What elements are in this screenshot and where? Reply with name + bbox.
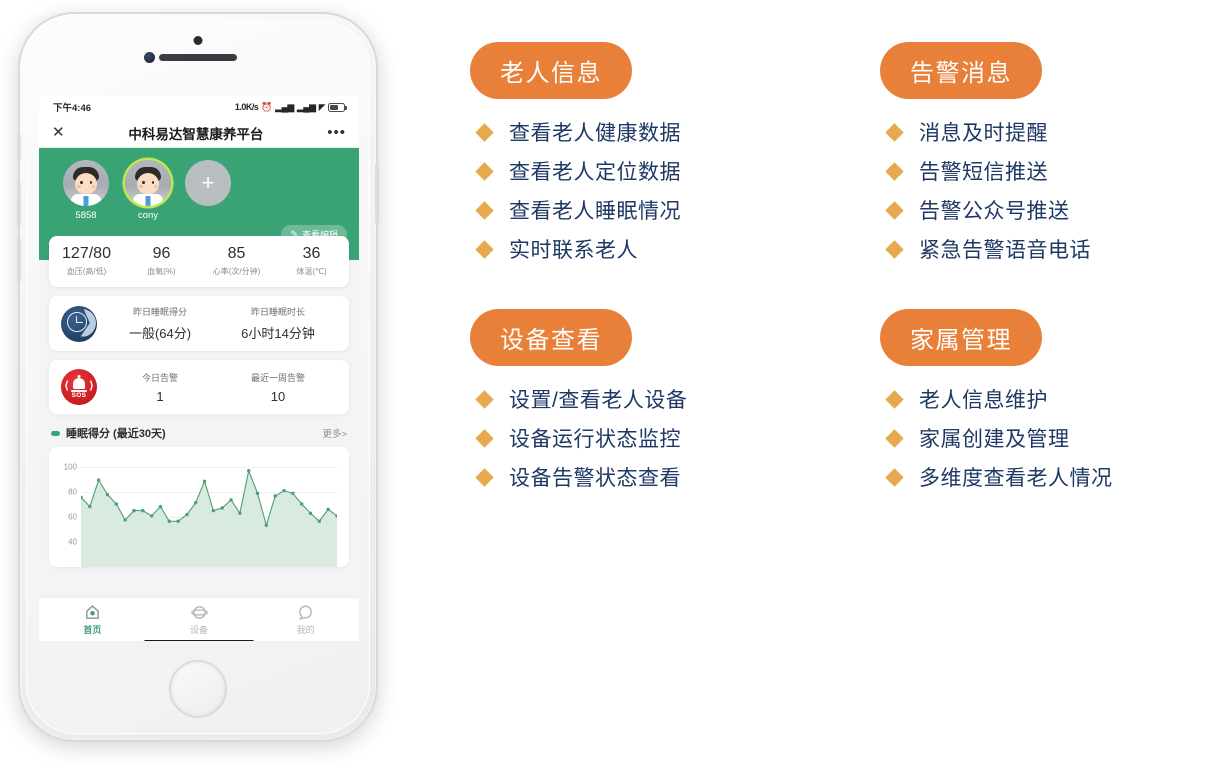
home-indicator — [144, 640, 254, 642]
list-item: 告警公众号推送 — [880, 195, 1200, 225]
vital-label: 体温(℃) — [274, 266, 349, 277]
chart-data-point — [309, 512, 312, 515]
diamond-bullet-icon — [885, 390, 903, 408]
feature-title-pill: 家属管理 — [880, 309, 1042, 366]
vital-label: 血氧(%) — [124, 266, 199, 277]
alarm-clock-icon: ⏰ — [261, 102, 272, 113]
diamond-bullet-icon — [475, 201, 493, 219]
vital-label: 血压(高/低) — [49, 266, 124, 277]
chart-data-point — [132, 509, 135, 512]
chart-data-point — [326, 508, 329, 511]
plus-icon: + — [185, 160, 231, 206]
volume-down-button[interactable] — [17, 238, 21, 282]
diamond-bullet-icon — [885, 240, 903, 258]
avatar-face — [137, 173, 159, 194]
vital-value: 96 — [124, 245, 199, 263]
feature-item-label: 设备运行状态监控 — [509, 423, 681, 453]
sleep-card[interactable]: 昨日睡眠得分 一般(64分) 昨日睡眠时长 6小时14分钟 — [49, 296, 349, 351]
feature-list: 消息及时提醒 告警短信推送 告警公众号推送 紧急告警语音电话 — [880, 117, 1200, 264]
y-axis-tick: 80 — [53, 488, 77, 497]
chart-data-point — [229, 498, 232, 501]
chart-title: 睡眠得分 (最近30天) — [66, 425, 166, 441]
stat-value: 一般(64分) — [101, 323, 219, 342]
y-axis-tick: 40 — [53, 538, 77, 547]
feature-list: 查看老人健康数据 查看老人定位数据 查看老人睡眠情况 实时联系老人 — [470, 117, 880, 264]
sleep-score-chart[interactable]: 100806040 — [49, 447, 349, 567]
volume-up-button[interactable] — [17, 182, 21, 226]
chart-data-point — [212, 509, 215, 512]
feature-item-label: 消息及时提醒 — [919, 117, 1048, 147]
chart-data-point — [265, 524, 268, 527]
battery-level — [330, 105, 338, 110]
y-axis-tick: 60 — [53, 513, 77, 522]
bell-wave-right: ⟩ — [89, 379, 94, 392]
diamond-bullet-icon — [885, 162, 903, 180]
list-item: 老人信息维护 — [880, 384, 1200, 414]
chart-data-point — [256, 492, 259, 495]
avatar-label: 5858 — [61, 210, 111, 221]
vital-value: 36 — [274, 245, 349, 263]
avatar-tie — [146, 196, 151, 206]
avatar-cheek-left — [139, 185, 143, 188]
chart-plot-area: 100806040 — [53, 455, 341, 567]
feature-title-pill: 告警消息 — [880, 42, 1042, 99]
front-camera-icon — [144, 52, 155, 63]
diamond-bullet-icon — [885, 123, 903, 141]
chart-data-point — [300, 502, 303, 505]
feature-block-device-view: 设备查看 设置/查看老人设备 设备运行状态监控 设备告警状态查看 — [470, 309, 880, 501]
feature-item-label: 查看老人健康数据 — [509, 117, 681, 147]
page-title: 中科易达智慧康养平台 — [128, 123, 263, 143]
chart-area-fill — [81, 471, 337, 567]
feature-item-label: 家属创建及管理 — [919, 423, 1070, 453]
home-icon — [39, 604, 146, 621]
proximity-sensor-icon — [194, 36, 203, 45]
list-item: 查看老人定位数据 — [470, 156, 880, 186]
feature-item-label: 查看老人定位数据 — [509, 156, 681, 186]
profile-icon — [252, 604, 359, 621]
list-item: 设置/查看老人设备 — [470, 384, 880, 414]
vital-value: 85 — [199, 245, 274, 263]
feature-item-label: 查看老人睡眠情况 — [509, 195, 681, 225]
avatar-eye-right — [152, 181, 155, 184]
avatar-eye-right — [90, 181, 93, 184]
y-axis-tick: 100 — [53, 463, 77, 472]
list-item: 告警短信推送 — [880, 156, 1200, 186]
bell-wave-left: ⟨ — [64, 379, 69, 392]
chart-data-point — [88, 505, 91, 508]
diamond-bullet-icon — [885, 429, 903, 447]
sos-label: SOS — [72, 392, 87, 399]
chart-data-point — [159, 505, 162, 508]
status-bar: 下午4:46 1.0K/s ⏰ ▂▄▆ ▂▄▆ ◤ — [39, 96, 359, 118]
diamond-bullet-icon — [475, 123, 493, 141]
list-item: 紧急告警语音电话 — [880, 234, 1200, 264]
chart-data-point — [273, 494, 276, 497]
vital-blood-oxygen[interactable]: 96 血氧(%) — [124, 245, 199, 277]
home-button[interactable] — [169, 660, 227, 718]
vital-value: 127/80 — [49, 245, 124, 263]
avatar-label: cony — [123, 210, 173, 221]
vital-temperature[interactable]: 36 体温(℃) — [274, 245, 349, 277]
chart-data-point — [247, 469, 250, 472]
chart-data-point — [97, 478, 100, 481]
close-icon[interactable]: ✕ — [52, 125, 65, 140]
chart-data-point — [115, 502, 118, 505]
chart-data-point — [168, 520, 171, 523]
chart-data-point — [194, 501, 197, 504]
feature-item-label: 老人信息维护 — [919, 384, 1048, 414]
avatar-face — [75, 173, 97, 194]
avatar-eye-left — [80, 181, 83, 184]
feature-item-label: 设备告警状态查看 — [509, 462, 681, 492]
list-item: 多维度查看老人情况 — [880, 462, 1200, 492]
stat-label: 最近一周告警 — [219, 371, 337, 384]
avatar-cheek-right — [92, 185, 96, 188]
wifi-icon: ◤ — [319, 102, 325, 113]
vital-blood-pressure[interactable]: 127/80 血压(高/低) — [49, 245, 124, 277]
stat-label: 昨日睡眠得分 — [101, 305, 219, 318]
feature-grid: 老人信息 查看老人健康数据 查看老人定位数据 查看老人睡眠情况 实时联系老人 告… — [470, 42, 1200, 501]
chart-data-point — [221, 506, 224, 509]
list-item: 设备告警状态查看 — [470, 462, 880, 492]
week-alarm-stat: 最近一周告警 10 — [219, 371, 337, 404]
diamond-bullet-icon — [475, 429, 493, 447]
signal-bars-icon: ▂▄▆ — [275, 102, 294, 113]
add-elder-item[interactable]: + — [185, 160, 235, 206]
chart-data-point — [176, 520, 179, 523]
network-speed-label: 1.0K/s — [235, 102, 259, 112]
alarm-stats: 今日告警 1 最近一周告警 10 — [101, 371, 337, 404]
today-alarm-stat: 今日告警 1 — [101, 371, 219, 404]
chart-data-point — [291, 492, 294, 495]
diamond-bullet-icon — [475, 240, 493, 258]
stat-value: 1 — [101, 389, 219, 404]
feature-title-pill: 老人信息 — [470, 42, 632, 99]
avatar-item[interactable]: 5858 — [61, 160, 111, 221]
tab-label: 设备 — [146, 623, 253, 636]
sleep-score-stat: 昨日睡眠得分 一般(64分) — [101, 305, 219, 342]
diamond-bullet-icon — [475, 162, 493, 180]
chart-data-point — [238, 512, 241, 515]
feature-item-label: 告警短信推送 — [919, 156, 1048, 186]
list-item: 消息及时提醒 — [880, 117, 1200, 147]
chart-data-point — [282, 489, 285, 492]
silent-switch[interactable] — [17, 134, 21, 160]
vital-heart-rate[interactable]: 85 心率(次/分钟) — [199, 245, 274, 277]
feature-item-label: 多维度查看老人情况 — [919, 462, 1113, 492]
clock-icon — [67, 312, 87, 332]
chart-data-point — [203, 480, 206, 483]
feature-item-label: 实时联系老人 — [509, 234, 638, 264]
avatar — [63, 160, 109, 206]
status-indicators: 1.0K/s ⏰ ▂▄▆ ▂▄▆ ◤ — [235, 102, 345, 113]
sleep-moon-clock-icon — [61, 306, 97, 342]
feature-block-elder-info: 老人信息 查看老人健康数据 查看老人定位数据 查看老人睡眠情况 实时联系老人 — [470, 42, 880, 273]
chart-line-svg — [81, 455, 337, 567]
avatar-eye-left — [142, 181, 145, 184]
list-item: 设备运行状态监控 — [470, 423, 880, 453]
chart-more-link[interactable]: 更多> — [322, 426, 347, 440]
list-item: 查看老人睡眠情况 — [470, 195, 880, 225]
feature-item-label: 设置/查看老人设备 — [509, 384, 687, 414]
tab-device[interactable]: 设备 — [146, 604, 253, 636]
feature-item-label: 紧急告警语音电话 — [919, 234, 1091, 264]
diamond-bullet-icon — [885, 468, 903, 486]
chart-data-point — [150, 514, 153, 517]
earpiece-speaker — [159, 54, 237, 61]
tab-profile[interactable]: 我的 — [252, 604, 359, 636]
feature-item-label: 告警公众号推送 — [919, 195, 1070, 225]
feature-list: 老人信息维护 家属创建及管理 多维度查看老人情况 — [880, 384, 1200, 492]
feature-block-alarm-messages: 告警消息 消息及时提醒 告警短信推送 告警公众号推送 紧急告警语音电话 — [880, 42, 1200, 273]
stat-value: 10 — [219, 389, 337, 404]
chart-data-point — [185, 513, 188, 516]
avatar-cheek-right — [154, 185, 158, 188]
tab-home[interactable]: 首页 — [39, 604, 146, 636]
feature-list: 设置/查看老人设备 设备运行状态监控 设备告警状态查看 — [470, 384, 880, 492]
avatar-tie — [84, 196, 89, 206]
feature-block-family-management: 家属管理 老人信息维护 家属创建及管理 多维度查看老人情况 — [880, 309, 1200, 501]
bell-icon — [73, 378, 85, 389]
phone-mockup: 下午4:46 1.0K/s ⏰ ▂▄▆ ▂▄▆ ◤ ✕ 中科易达智慧康养平台 •… — [18, 12, 378, 742]
chart-data-point — [141, 509, 144, 512]
chart-data-point — [318, 520, 321, 523]
sleep-duration-stat: 昨日睡眠时长 6小时14分钟 — [219, 305, 337, 342]
chart-title-group: 睡眠得分 (最近30天) — [51, 425, 166, 441]
avatar-item-selected[interactable]: cony — [123, 160, 173, 221]
avatar — [125, 160, 171, 206]
vitals-card: 127/80 血压(高/低) 96 血氧(%) 85 心率(次/分钟) 36 体… — [49, 236, 349, 287]
more-options-icon[interactable]: ••• — [327, 125, 346, 140]
sos-alarm-bell-icon: ⟨ ⟩ SOS — [61, 369, 97, 405]
list-item: 家属创建及管理 — [880, 423, 1200, 453]
chart-data-point — [123, 518, 126, 521]
chart-data-point — [106, 493, 109, 496]
tab-label: 首页 — [39, 623, 146, 636]
tab-label: 我的 — [252, 623, 359, 636]
phone-screen: 下午4:46 1.0K/s ⏰ ▂▄▆ ▂▄▆ ◤ ✕ 中科易达智慧康养平台 •… — [39, 96, 359, 641]
stat-value: 6小时14分钟 — [219, 323, 337, 342]
signal-bars-icon-2: ▂▄▆ — [297, 102, 316, 113]
legend-dot-icon — [51, 431, 60, 436]
sleep-stats: 昨日睡眠得分 一般(64分) 昨日睡眠时长 6小时14分钟 — [101, 305, 337, 342]
list-item: 实时联系老人 — [470, 234, 880, 264]
power-button[interactable] — [375, 164, 379, 224]
list-item: 查看老人健康数据 — [470, 117, 880, 147]
avatar-row: 5858 cony — [39, 160, 359, 221]
app-navbar: ✕ 中科易达智慧康养平台 ••• — [39, 118, 359, 148]
vital-label: 心率(次/分钟) — [199, 266, 274, 277]
battery-icon — [328, 103, 345, 112]
device-icon — [146, 604, 253, 621]
avatar-cheek-left — [77, 185, 81, 188]
stat-label: 今日告警 — [101, 371, 219, 384]
alarm-card[interactable]: ⟨ ⟩ SOS 今日告警 1 最近一周告警 10 — [49, 360, 349, 414]
diamond-bullet-icon — [475, 468, 493, 486]
status-time: 下午4:46 — [53, 100, 91, 114]
diamond-bullet-icon — [885, 201, 903, 219]
feature-title-pill: 设备查看 — [470, 309, 632, 366]
stat-label: 昨日睡眠时长 — [219, 305, 337, 318]
chart-header: 睡眠得分 (最近30天) 更多> — [51, 425, 347, 441]
diamond-bullet-icon — [475, 390, 493, 408]
tab-bar: 首页 设备 我的 — [39, 597, 359, 641]
